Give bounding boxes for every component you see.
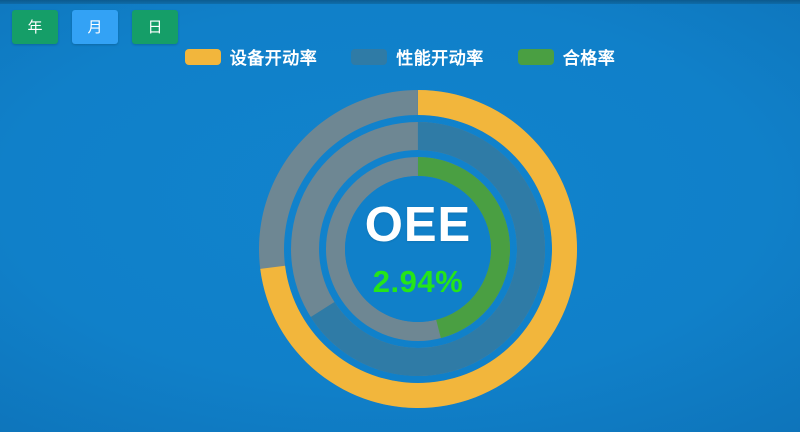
period-button-year[interactable]: 年 bbox=[12, 10, 58, 44]
period-button-day[interactable]: 日 bbox=[132, 10, 178, 44]
legend-item-quality[interactable]: 合格率 bbox=[518, 44, 616, 69]
chart-legend: 设备开动率 性能开动率 合格率 bbox=[0, 44, 800, 69]
period-button-month[interactable]: 月 bbox=[72, 10, 118, 44]
period-selector: 年 月 日 bbox=[12, 10, 178, 44]
legend-swatch-quality bbox=[518, 49, 554, 65]
donut-center-disc bbox=[345, 176, 491, 322]
legend-item-availability[interactable]: 设备开动率 bbox=[185, 44, 318, 69]
legend-item-performance[interactable]: 性能开动率 bbox=[351, 44, 484, 69]
legend-label-availability: 设备开动率 bbox=[230, 44, 318, 69]
panel-top-edge bbox=[0, 0, 800, 4]
legend-label-performance: 性能开动率 bbox=[396, 44, 484, 69]
oee-donut-chart[interactable]: OEE 2.94% bbox=[259, 90, 577, 408]
legend-swatch-availability bbox=[185, 49, 221, 65]
donut-svg bbox=[259, 90, 577, 408]
legend-swatch-performance bbox=[351, 49, 387, 65]
legend-label-quality: 合格率 bbox=[563, 44, 616, 69]
